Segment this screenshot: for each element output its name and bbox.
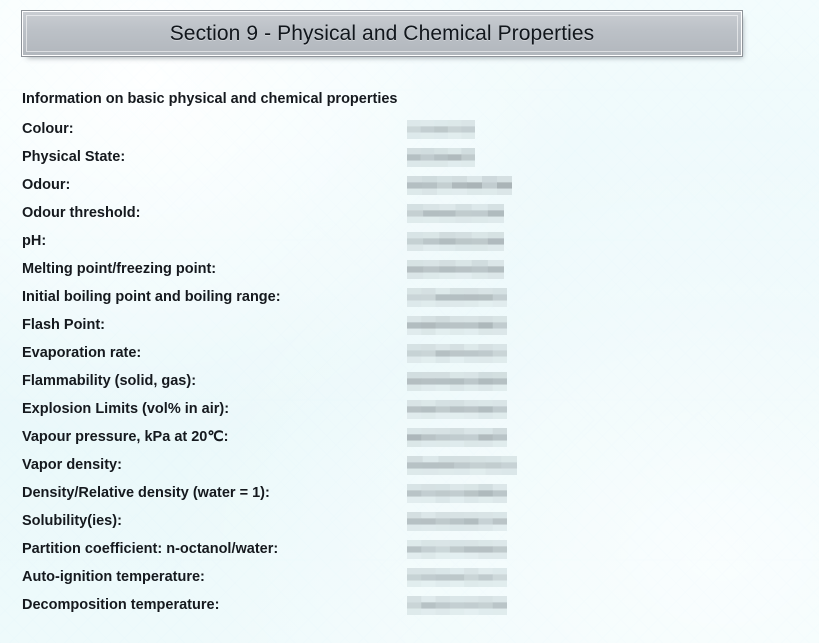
redaction-mosaic [407,456,517,475]
property-row: Density/Relative density (water = 1): [0,483,819,511]
property-value-redacted [407,428,507,447]
redaction-mosaic [407,484,507,503]
property-label: Evaporation rate: [22,343,141,363]
property-value-redacted [407,232,504,251]
property-value-redacted [407,260,504,279]
property-value-redacted [407,176,512,195]
property-label: Colour: [22,119,74,139]
property-label: Odour threshold: [22,203,140,223]
redaction-mosaic [407,316,507,335]
redaction-mosaic [407,176,512,195]
redaction-mosaic [407,428,507,447]
section-header-bar: Section 9 - Physical and Chemical Proper… [22,11,742,56]
properties-panel: Information on basic physical and chemic… [0,0,819,643]
redaction-mosaic [407,288,507,307]
property-row: Melting point/freezing point: [0,259,819,287]
property-value-redacted [407,372,507,391]
property-value-redacted [407,596,507,615]
property-value-redacted [407,540,507,559]
property-value-redacted [407,120,475,139]
property-value-redacted [407,512,507,531]
property-row: Initial boiling point and boiling range: [0,287,819,315]
property-label: Flash Point: [22,315,105,335]
redaction-mosaic [407,204,504,223]
property-row: Odour: [0,175,819,203]
redaction-mosaic [407,372,507,391]
property-row: Evaporation rate: [0,343,819,371]
page-title: Section 9 - Physical and Chemical Proper… [170,22,595,46]
property-row: Odour threshold: [0,203,819,231]
property-label: Vapour pressure, kPa at 20℃: [22,427,228,447]
property-row: Partition coefficient: n-octanol/water: [0,539,819,567]
redaction-mosaic [407,232,504,251]
property-label: Density/Relative density (water = 1): [22,483,270,503]
property-label: Auto-ignition temperature: [22,567,205,587]
redaction-mosaic [407,260,504,279]
property-row: pH: [0,231,819,259]
property-row: Colour: [0,119,819,147]
property-label: Vapor density: [22,455,122,475]
property-value-redacted [407,204,504,223]
redaction-mosaic [407,120,475,139]
redaction-mosaic [407,596,507,615]
property-row: Vapor density: [0,455,819,483]
property-value-redacted [407,288,507,307]
property-row: Flash Point: [0,315,819,343]
property-value-redacted [407,316,507,335]
property-row: Flammability (solid, gas): [0,371,819,399]
property-value-redacted [407,400,507,419]
property-value-redacted [407,456,517,475]
property-value-redacted [407,484,507,503]
property-label: Explosion Limits (vol% in air): [22,399,229,419]
property-label: pH: [22,231,46,251]
property-row: Solubility(ies): [0,511,819,539]
property-label: Solubility(ies): [22,511,122,531]
intro-label: Information on basic physical and chemic… [22,91,398,107]
property-label: Physical State: [22,147,125,167]
property-row: Explosion Limits (vol% in air): [0,399,819,427]
property-row: Decomposition temperature: [0,595,819,623]
redaction-mosaic [407,344,507,363]
property-label: Melting point/freezing point: [22,259,216,279]
property-value-redacted [407,344,507,363]
redaction-mosaic [407,148,475,167]
property-label: Odour: [22,175,70,195]
property-label: Flammability (solid, gas): [22,371,196,391]
property-row: Physical State: [0,147,819,175]
redaction-mosaic [407,400,507,419]
redaction-mosaic [407,512,507,531]
property-row: Auto-ignition temperature: [0,567,819,595]
property-label: Decomposition temperature: [22,595,219,615]
redaction-mosaic [407,540,507,559]
property-value-redacted [407,148,475,167]
property-value-redacted [407,568,507,587]
property-label: Partition coefficient: n-octanol/water: [22,539,278,559]
redaction-mosaic [407,568,507,587]
property-row: Vapour pressure, kPa at 20℃: [0,427,819,455]
property-label: Initial boiling point and boiling range: [22,287,281,307]
